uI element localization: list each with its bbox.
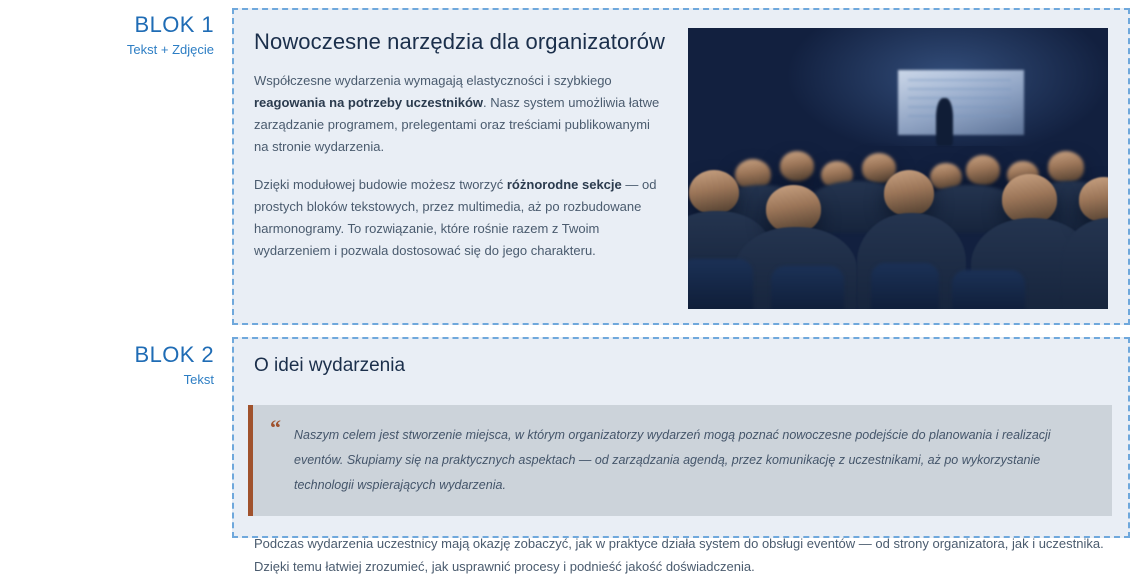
block-1-heading: Nowoczesne narzędzia dla organizatorów (254, 28, 668, 56)
conference-audience-photo (688, 28, 1108, 309)
projection-screen (898, 70, 1024, 135)
block-2-label: BLOK 2 (0, 342, 214, 368)
quote-mark-icon: “ (270, 417, 281, 439)
blockquote-accent-bar (248, 405, 253, 516)
block-2-sublabel: Tekst (0, 371, 214, 389)
projection-screen-lines (908, 79, 1011, 123)
block-row-1: BLOK 1 Tekst + Zdjęcie Nowoczesne narzęd… (0, 8, 1130, 325)
block-1-gutter: BLOK 1 Tekst + Zdjęcie (0, 8, 232, 59)
block-2-heading: O idei wydarzenia (248, 353, 1112, 379)
block-2-closing-paragraph: Podczas wydarzenia uczestnicy mają okazj… (248, 532, 1112, 578)
block-1-panel: Nowoczesne narzędzia dla organizatorów W… (232, 8, 1130, 325)
block-1-label: BLOK 1 (0, 12, 214, 38)
block-1-sublabel: Tekst + Zdjęcie (0, 41, 214, 59)
blockquote-text: Naszym celem jest stworzenie miejsca, w … (294, 423, 1082, 498)
audience-crowd (688, 129, 1108, 309)
page-root: BLOK 1 Tekst + Zdjęcie Nowoczesne narzęd… (0, 0, 1138, 553)
block-row-2: BLOK 2 Tekst O idei wydarzenia “ Naszym … (0, 337, 1130, 538)
blockquote: “ Naszym celem jest stworzenie miejsca, … (248, 405, 1112, 516)
block-1-text-column: Nowoczesne narzędzia dla organizatorów W… (248, 28, 668, 307)
block-2-panel: O idei wydarzenia “ Naszym celem jest st… (232, 337, 1130, 538)
block-1-paragraph-1: Współczesne wydarzenia wymagają elastycz… (254, 70, 668, 158)
block-2-gutter: BLOK 2 Tekst (0, 337, 232, 389)
block-1-paragraph-2: Dzięki modułowej budowie możesz tworzyć … (254, 174, 668, 262)
